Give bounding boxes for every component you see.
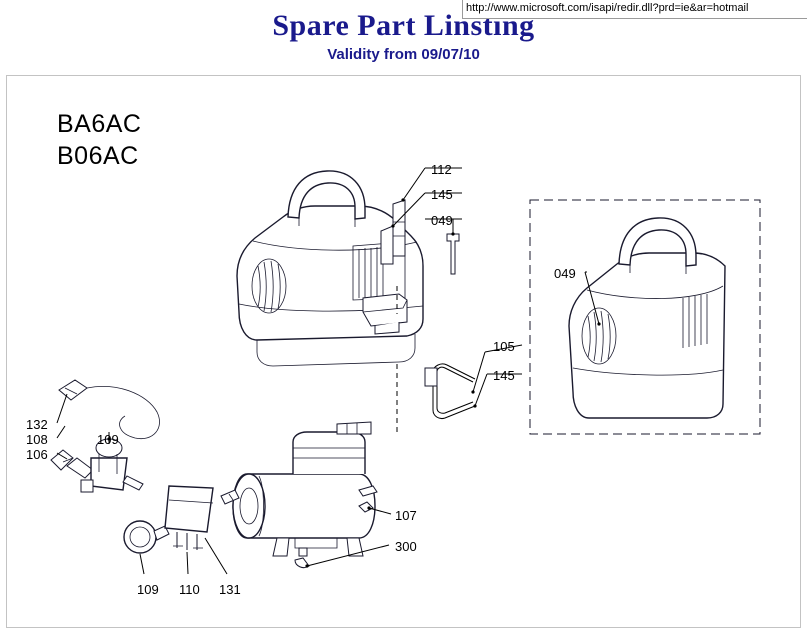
callout-108: 108 xyxy=(26,432,48,447)
callout-131: 131 xyxy=(219,582,241,597)
browser-address-bar[interactable]: http://www.microsoft.com/isapi/redir.dll… xyxy=(462,0,807,19)
callout-300: 300 xyxy=(395,539,417,554)
compressor-cover-main xyxy=(237,171,459,366)
diagram-panel: BA6AC B06AC xyxy=(6,75,801,628)
alternate-cover-inset xyxy=(530,200,760,434)
callout-132: 132 xyxy=(26,417,48,432)
callout-109-upper: 109 xyxy=(97,432,119,447)
callout-145-tube: 145 xyxy=(493,368,515,383)
callout-110: 110 xyxy=(179,582,200,597)
pressure-switch-group xyxy=(51,380,239,553)
page-root: Spare Part Linsting Validity from 09/07/… xyxy=(0,0,807,634)
callout-106: 106 xyxy=(26,447,48,462)
callout-049-inset: 049 xyxy=(554,266,576,281)
callout-049-main: 049 xyxy=(431,213,453,228)
callout-109-lower: 109 xyxy=(137,582,159,597)
callout-112: 112 xyxy=(431,162,452,177)
callout-105: 105 xyxy=(493,339,515,354)
discharge-tube xyxy=(425,364,475,419)
callout-107: 107 xyxy=(395,508,417,523)
air-tank xyxy=(233,422,377,568)
page-subtitle: Validity from 09/07/10 xyxy=(0,46,807,63)
callout-145-top: 145 xyxy=(431,187,453,202)
